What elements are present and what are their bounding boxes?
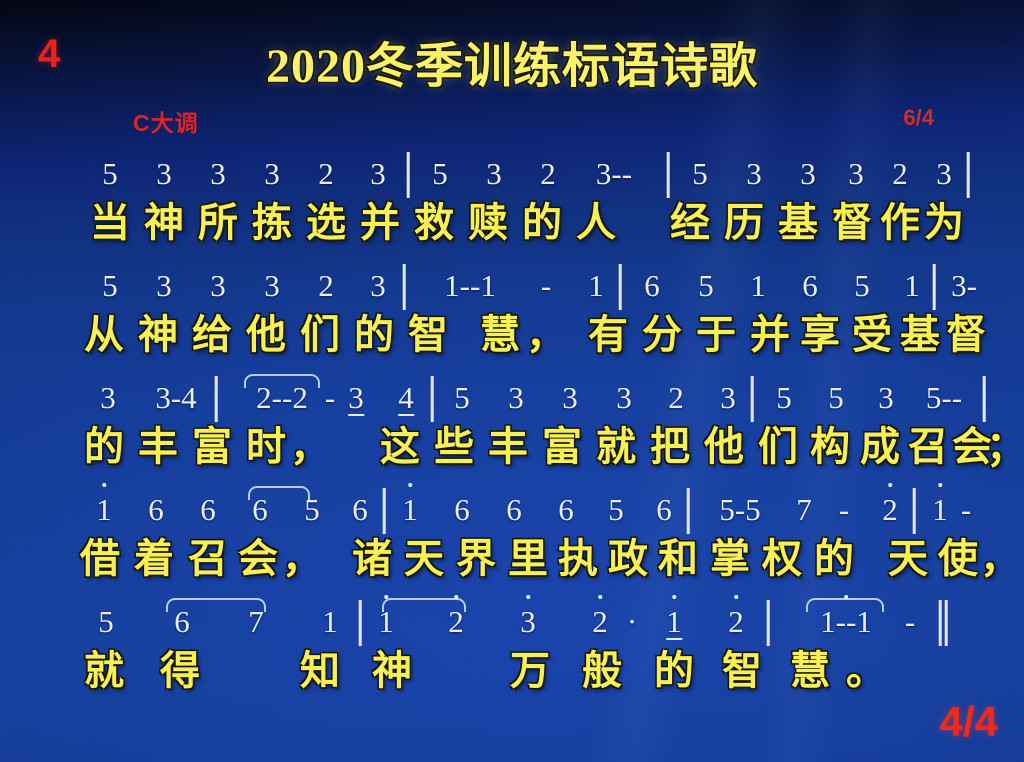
note: 1--1	[820, 606, 872, 637]
lyric-char: 和	[658, 536, 698, 582]
note: 3	[720, 382, 736, 413]
note: 6	[506, 494, 522, 525]
note: 3	[616, 382, 632, 413]
barline	[983, 376, 986, 422]
lyric-row: 的丰富时，这些丰富就把他们构成召会；	[0, 424, 1024, 484]
lyric-char: 的	[814, 536, 854, 582]
lyric-char: 有	[588, 312, 628, 358]
notation-row: 5333235323--533323	[0, 152, 1024, 200]
lyric-char: ；	[986, 424, 1024, 470]
octave-dot-icon	[526, 595, 530, 599]
notation-row: 33-42--2-345333235535--	[0, 376, 1024, 424]
note: 3-4	[155, 382, 196, 413]
note: 1	[322, 606, 338, 637]
note: 2	[592, 606, 608, 637]
note: 5	[828, 382, 844, 413]
lyric-char: 神	[138, 312, 178, 358]
note: 3	[508, 382, 524, 413]
lyric-char: 富	[542, 424, 582, 470]
lyric-char: 分	[642, 312, 682, 358]
lyric-char: 界	[456, 536, 496, 582]
note: 6	[644, 270, 660, 301]
lyric-char: 赎	[468, 200, 508, 246]
lyric-char: 的	[354, 312, 394, 358]
lyric-char: 神	[372, 648, 412, 694]
note: 2	[448, 606, 464, 637]
note: ·	[627, 606, 637, 637]
note: 6	[200, 494, 216, 525]
note: 5	[304, 494, 320, 525]
lyric-char: ，	[282, 536, 322, 582]
note: 2--2	[256, 382, 308, 413]
note: 3	[156, 158, 172, 189]
octave-dot-icon	[102, 483, 106, 487]
lyric-char: 神	[144, 200, 184, 246]
note: 1	[402, 494, 418, 525]
note: 5	[102, 158, 118, 189]
note: 7	[248, 606, 264, 637]
note: 3	[348, 382, 364, 416]
score-system: 5333235323--533323当神所拣选并救赎的人经历基督作为	[0, 152, 1024, 260]
lyric-char: 掌	[710, 536, 750, 582]
octave-dot-icon	[384, 595, 388, 599]
barline	[407, 152, 410, 198]
barline	[403, 264, 406, 310]
note: 3	[210, 270, 226, 301]
lyric-char: 于	[696, 312, 736, 358]
lyric-char: 借	[80, 536, 120, 582]
note: 1	[378, 606, 394, 637]
lyric-char: 基	[900, 312, 940, 358]
note: -	[905, 606, 915, 637]
lyric-char: 执	[558, 536, 598, 582]
lyric-char: 智	[722, 648, 762, 694]
lyric-char: 们	[758, 424, 798, 470]
barline	[913, 488, 916, 534]
lyric-char: 成	[860, 424, 900, 470]
note: 2	[668, 382, 684, 413]
barline	[933, 264, 936, 310]
note: 3	[370, 158, 386, 189]
note: 2	[540, 158, 556, 189]
note: 3	[486, 158, 502, 189]
score-system: 1666561666565-57-21-借着召会，诸天界里执政和掌权的天使，	[0, 488, 1024, 596]
lyric-char: 督	[832, 200, 872, 246]
lyric-char: 就	[84, 648, 124, 694]
page-title: 2020冬季训练标语诗歌	[0, 26, 1024, 96]
time-signature-top: 6/4	[903, 105, 934, 131]
score-system: 33-42--2-345333235535--的丰富时，这些丰富就把他们构成召会…	[0, 376, 1024, 484]
barline	[751, 376, 754, 422]
note: -	[839, 494, 849, 525]
note: 5	[776, 382, 792, 413]
lyric-char: 他	[704, 424, 744, 470]
note: 3-	[951, 270, 977, 301]
note: 2	[882, 494, 898, 525]
note: 3	[936, 158, 952, 189]
note: 6	[656, 494, 672, 525]
lyric-char: 的	[522, 200, 562, 246]
note: 6	[174, 606, 190, 637]
lyric-char: 着	[134, 536, 174, 582]
lyric-row: 当神所拣选并救赎的人经历基督作为	[0, 200, 1024, 260]
note: 5	[608, 494, 624, 525]
note: 3	[264, 158, 280, 189]
note: 3	[746, 158, 762, 189]
lyric-char: 丰	[138, 424, 178, 470]
lyric-char: 知	[300, 648, 340, 694]
song-slide: 4 2020冬季训练标语诗歌 C大调 6/4 5333235323--53332…	[0, 0, 1024, 762]
lyric-char: 智	[408, 312, 448, 358]
lyric-char: 召	[908, 424, 948, 470]
note: 3	[800, 158, 816, 189]
lyric-row: 借着召会，诸天界里执政和掌权的天使，	[0, 536, 1024, 596]
note: 3	[210, 158, 226, 189]
note: 3	[520, 606, 536, 637]
lyric-char: 富	[192, 424, 232, 470]
lyric-char: 的	[654, 648, 694, 694]
barline	[431, 376, 434, 422]
note: 3--	[596, 158, 632, 189]
lyric-row: 从神给他们的智慧，有分于并享受基督	[0, 312, 1024, 372]
lyric-char: 所	[198, 200, 238, 246]
lyric-char: 慧	[790, 648, 830, 694]
lyric-char: 里	[508, 536, 548, 582]
barline	[687, 488, 690, 534]
lyric-char: 基	[778, 200, 818, 246]
note: 1	[750, 270, 766, 301]
lyric-char: 为	[924, 200, 964, 246]
octave-dot-icon	[454, 595, 458, 599]
lyric-char: 并	[750, 312, 790, 358]
note: 5	[454, 382, 470, 413]
page-number: 4	[38, 32, 60, 77]
note: 5	[692, 158, 708, 189]
note: 1--1	[444, 270, 496, 301]
lyric-char: ，	[290, 424, 330, 470]
note: 2	[318, 270, 334, 301]
lyric-char: 经	[670, 200, 710, 246]
note: 5	[432, 158, 448, 189]
lyric-char: 们	[300, 312, 340, 358]
note: 2	[892, 158, 908, 189]
lyric-char: 督	[946, 312, 986, 358]
note: -	[325, 382, 335, 413]
lyric-char: 。	[846, 648, 886, 694]
note: 4	[398, 382, 414, 416]
octave-dot-icon	[672, 595, 676, 599]
note: 5	[854, 270, 870, 301]
key-signature: C大调	[133, 104, 199, 138]
note: 2	[318, 158, 334, 189]
lyric-char: 天	[888, 536, 928, 582]
note: 3	[878, 382, 894, 413]
note: -	[541, 270, 551, 301]
lyric-row: 就得知神万般的智慧。	[0, 648, 1024, 708]
lyric-char: 天	[404, 536, 444, 582]
octave-dot-icon	[734, 595, 738, 599]
lyric-char: 政	[608, 536, 648, 582]
lyric-char: 权	[762, 536, 802, 582]
lyric-char: 构	[810, 424, 850, 470]
note: 5	[102, 270, 118, 301]
lyric-char: 会	[238, 536, 278, 582]
note: 1	[588, 270, 604, 301]
lyric-char: 受	[852, 312, 892, 358]
lyric-char: 历	[724, 200, 764, 246]
lyric-char: 召	[188, 536, 228, 582]
score-system: 5333231--1-16516513-从神给他们的智慧，有分于并享受基督	[0, 264, 1024, 372]
note: 3	[156, 270, 172, 301]
lyric-char: 的	[84, 424, 124, 470]
note: 6	[148, 494, 164, 525]
lyric-char: 诸	[352, 536, 392, 582]
note: 6	[802, 270, 818, 301]
score-system: 56711232·121--1-就得知神万般的智慧。	[0, 600, 1024, 708]
note: 3	[100, 382, 116, 413]
barline	[383, 488, 386, 534]
lyric-char: 就	[596, 424, 636, 470]
note: 5--	[926, 382, 962, 413]
notation-row: 1666561666565-57-21-	[0, 488, 1024, 536]
note: 3	[848, 158, 864, 189]
lyric-char: 使	[938, 536, 978, 582]
lyric-char: 选	[306, 200, 346, 246]
lyric-char: 些	[434, 424, 474, 470]
lyric-char: 他	[246, 312, 286, 358]
note: 1	[666, 606, 682, 640]
octave-dot-icon	[408, 483, 412, 487]
lyric-char: 这	[380, 424, 420, 470]
lyric-char: 慧	[480, 312, 520, 358]
lyric-char: 拣	[252, 200, 292, 246]
octave-dot-icon	[938, 483, 942, 487]
barline	[359, 600, 362, 646]
notation-row: 56711232·121--1-	[0, 600, 1024, 648]
lyric-char: ，	[526, 312, 566, 358]
note: 3	[370, 270, 386, 301]
lyric-char: 当	[90, 200, 130, 246]
lyric-char: 时	[246, 424, 286, 470]
notation-row: 5333231--1-16516513-	[0, 264, 1024, 312]
barline	[619, 264, 622, 310]
lyric-char: 作	[880, 200, 920, 246]
lyric-char: 得	[160, 648, 200, 694]
octave-dot-icon	[844, 595, 848, 599]
note: -	[961, 494, 971, 525]
lyric-char: 万	[510, 648, 550, 694]
note: 6	[454, 494, 470, 525]
barline	[215, 376, 218, 422]
barline	[967, 152, 970, 198]
note: 7	[796, 494, 812, 525]
barline	[767, 600, 770, 646]
note: 1	[904, 270, 920, 301]
note: 6	[252, 494, 268, 525]
note: 3	[264, 270, 280, 301]
note: 2	[728, 606, 744, 637]
lyric-char: 把	[650, 424, 690, 470]
time-signature-bottom: 4/4	[940, 698, 998, 746]
lyric-char: 救	[414, 200, 454, 246]
lyric-char: 享	[800, 312, 840, 358]
lyric-char: 般	[582, 648, 622, 694]
music-score: 5333235323--533323当神所拣选并救赎的人经历基督作为533323…	[0, 152, 1024, 712]
octave-dot-icon	[598, 595, 602, 599]
note: 1	[96, 494, 112, 525]
lyric-char: 给	[192, 312, 232, 358]
note: 6	[352, 494, 368, 525]
octave-dot-icon	[888, 483, 892, 487]
lyric-char: 从	[84, 312, 124, 358]
note: 1	[932, 494, 948, 525]
note: 5-5	[719, 494, 760, 525]
note: 5	[698, 270, 714, 301]
final-barline	[939, 600, 942, 646]
lyric-char: 并	[360, 200, 400, 246]
barline	[667, 152, 670, 198]
lyric-char: ，	[980, 536, 1020, 582]
note: 6	[558, 494, 574, 525]
note: 5	[98, 606, 114, 637]
note: 3	[562, 382, 578, 413]
lyric-char: 人	[576, 200, 616, 246]
lyric-char: 丰	[488, 424, 528, 470]
